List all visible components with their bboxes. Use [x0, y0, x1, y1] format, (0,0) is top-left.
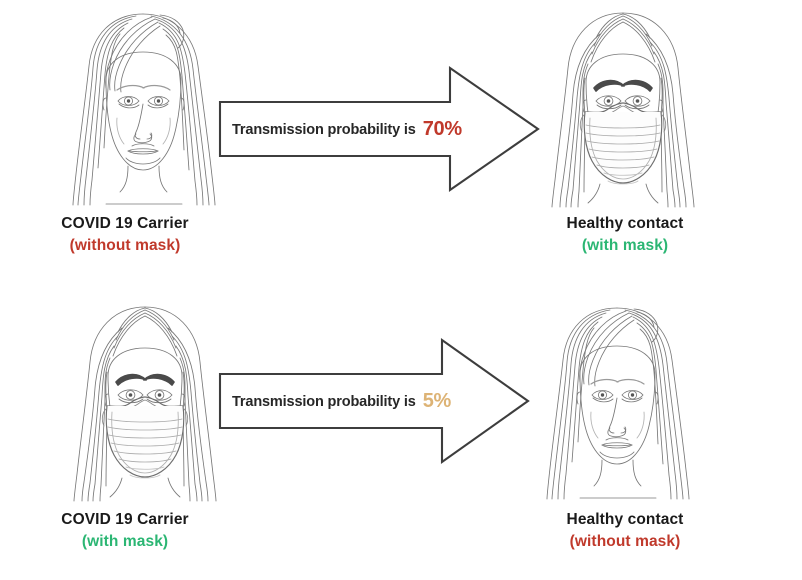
arrow-bottom-value: 5%: [423, 390, 451, 412]
face-without-mask-illustration: [48, 8, 238, 213]
caption-title: Healthy contact: [510, 214, 740, 234]
caption-mask-state: (with mask): [14, 532, 236, 552]
arrow-bottom-prefix: Transmission probability is: [232, 394, 416, 410]
arrow-top-label: Transmission probability is70%: [232, 118, 462, 141]
caption-title: COVID 19 Carrier: [14, 214, 236, 234]
face-with-mask-illustration: [50, 302, 240, 507]
caption-mask-state: (without mask): [14, 236, 236, 256]
caption-bottom-right: Healthy contact (without mask): [510, 510, 740, 552]
caption-bottom-left: COVID 19 Carrier (with mask): [14, 510, 236, 552]
caption-title: COVID 19 Carrier: [14, 510, 236, 530]
caption-top-right: Healthy contact (with mask): [510, 214, 740, 256]
arrow-bottom: Transmission probability is5%: [218, 338, 530, 464]
arrow-top-value: 70%: [423, 118, 462, 140]
caption-title: Healthy contact: [510, 510, 740, 530]
arrow-top-prefix: Transmission probability is: [232, 122, 416, 138]
face-with-mask-illustration: [528, 8, 718, 213]
caption-mask-state: (without mask): [510, 532, 740, 552]
caption-top-left: COVID 19 Carrier (without mask): [14, 214, 236, 256]
caption-mask-state: (with mask): [510, 236, 740, 256]
face-without-mask-illustration: [522, 302, 712, 507]
arrow-top: Transmission probability is70%: [218, 66, 540, 192]
arrow-bottom-label: Transmission probability is5%: [232, 390, 451, 413]
infographic-canvas: COVID 19 Carrier (without mask) Transmis…: [0, 0, 802, 580]
